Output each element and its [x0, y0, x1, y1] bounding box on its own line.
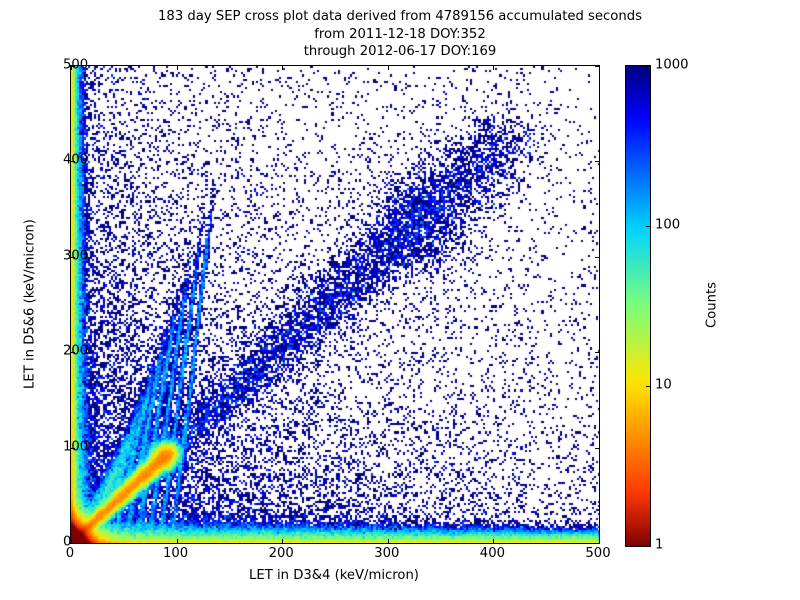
x-tick	[177, 66, 178, 70]
colorbar-gradient	[626, 66, 650, 546]
figure-canvas: 183 day SEP cross plot data derived from…	[0, 0, 800, 600]
y-tick	[595, 543, 599, 544]
y-tick	[71, 543, 75, 544]
x-tick	[599, 66, 600, 70]
x-tick	[388, 66, 389, 70]
x-ticklabel: 100	[163, 546, 188, 561]
x-axis-label: LET in D3&4 (keV/micron)	[70, 568, 598, 583]
y-tick	[595, 448, 599, 449]
colorbar-tick	[646, 546, 650, 547]
figure-title-line-2: from 2011-12-18 DOY:352	[0, 26, 800, 44]
x-tick	[282, 539, 283, 543]
x-tick	[177, 539, 178, 543]
plot-area	[70, 65, 600, 544]
x-ticklabel: 500	[585, 546, 610, 561]
x-ticklabel: 400	[480, 546, 505, 561]
heatmap-plot-region	[71, 66, 599, 543]
figure-title-line-1: 183 day SEP cross plot data derived from…	[0, 8, 800, 26]
colorbar-ticklabel: 10	[655, 378, 672, 393]
x-tick	[493, 66, 494, 70]
x-ticklabel: 200	[269, 546, 294, 561]
x-tick	[493, 539, 494, 543]
colorbar-ticklabel: 1	[655, 538, 663, 553]
y-axis-label: LET in D5&6 (keV/micron)	[23, 219, 38, 389]
colorbar-tick	[646, 66, 650, 67]
y-tick	[595, 66, 599, 67]
colorbar	[625, 65, 651, 547]
colorbar-tick	[646, 226, 650, 227]
x-tick	[282, 66, 283, 70]
y-tick	[595, 257, 599, 258]
x-ticklabel: 300	[374, 546, 399, 561]
x-tick	[388, 539, 389, 543]
colorbar-label: Counts	[705, 282, 720, 328]
y-tick	[595, 352, 599, 353]
colorbar-tick	[646, 386, 650, 387]
heatmap-data-layer	[71, 66, 599, 543]
y-tick	[595, 161, 599, 162]
colorbar-ticklabel: 100	[655, 218, 680, 233]
x-tick	[599, 539, 600, 543]
colorbar-ticklabel: 1000	[655, 58, 689, 73]
figure-title: 183 day SEP cross plot data derived from…	[0, 8, 800, 61]
